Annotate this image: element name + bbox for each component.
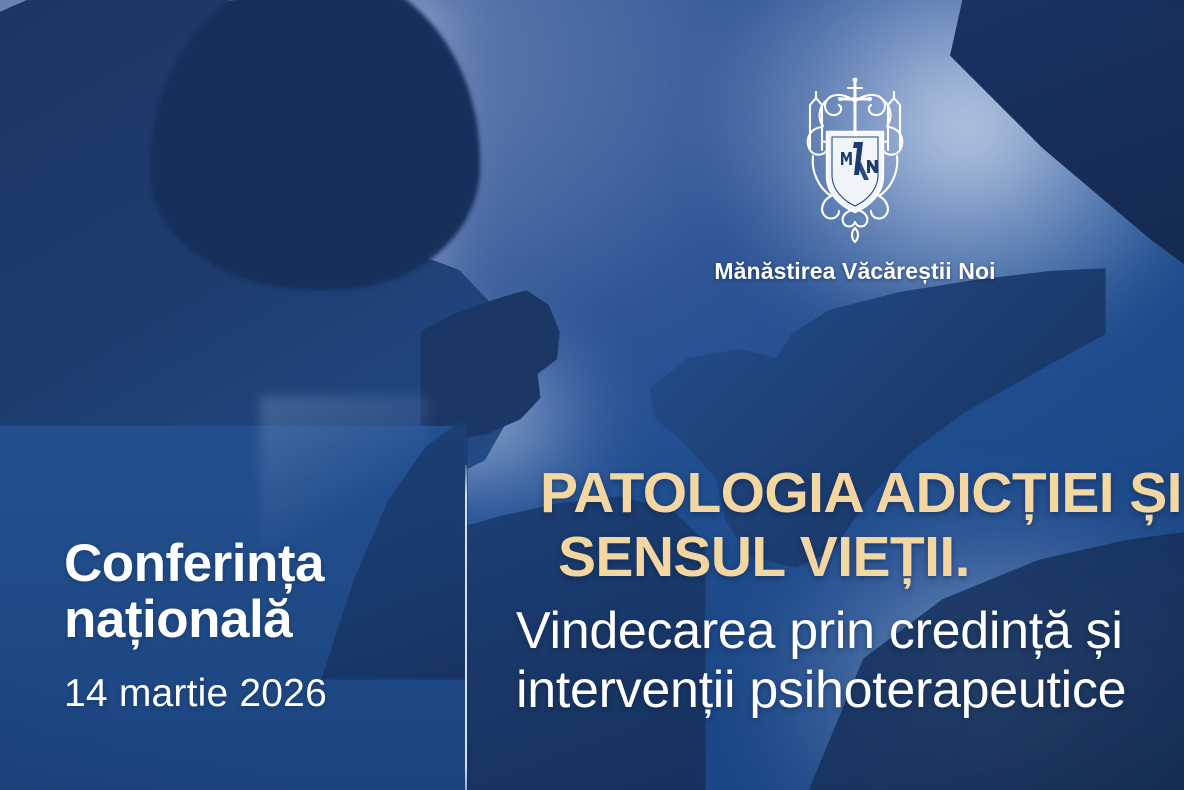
main-title-line-2: SENSUL VIEȚII. [558,526,1184,590]
subtitle-line-2: intervenții psihoterapeutice [516,661,1184,720]
conference-info-block: Conferința națională 14 martie 2026 [64,536,464,716]
monastery-name: Mănăstirea Văcăreștii Noi [714,258,995,285]
monastery-crest-icon [789,72,921,244]
conference-title-block: PATOLOGIA ADICȚIEI ȘI SENSUL VIEȚII. Vin… [540,462,1184,720]
main-title-line-1: PATOLOGIA ADICȚIEI ȘI [540,462,1184,526]
vertical-divider [465,465,467,790]
conference-kind-line-1: Conferința [64,536,464,592]
person-hair-silhouette [150,0,480,290]
cross-icon [838,78,872,138]
subtitle-line-1: Vindecarea prin credință și [516,602,1184,661]
subtitle-block: Vindecarea prin credință și intervenții … [516,602,1184,721]
monastery-branding: Mănăstirea Văcăreștii Noi [702,72,1008,285]
conference-poster: Mănăstirea Văcăreștii Noi Conferința naț… [0,0,1184,790]
conference-kind-line-2: națională [64,592,464,648]
conference-date: 14 martie 2026 [64,672,464,716]
